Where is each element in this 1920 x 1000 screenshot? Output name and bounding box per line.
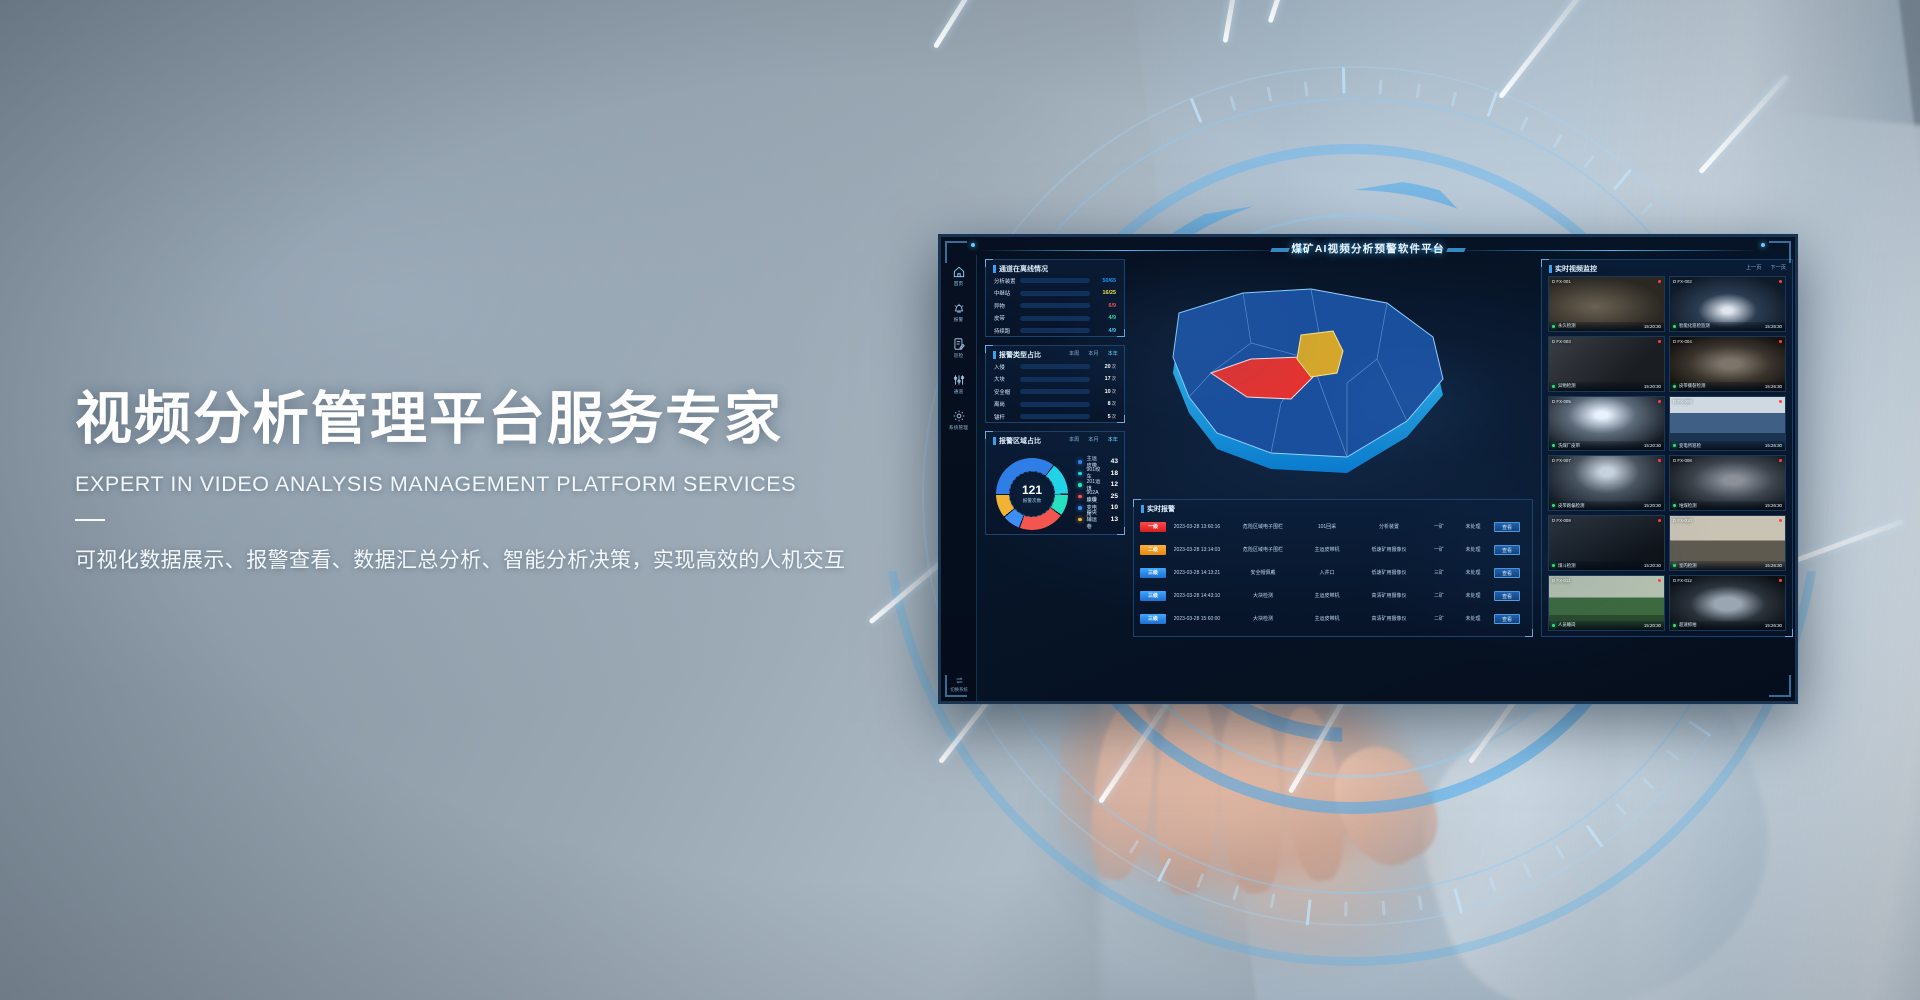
view-button[interactable]: 查看 <box>1494 522 1520 532</box>
tab-本月[interactable]: 本月 <box>1088 436 1098 443</box>
camera-id: D FX-006 <box>1673 399 1692 404</box>
video-tile[interactable]: D FX-011人员睡岗15:20:30 <box>1548 575 1665 631</box>
channel-name: 持续跑 <box>994 327 1020 335</box>
progress-track <box>1020 303 1090 308</box>
camera-name: 变电所巡检 <box>1679 443 1765 449</box>
alarm-type-panel: 报警类型占比 本周本月本年 入侵20次大块17次安全帽10次离岗8次锚杆5次 <box>985 345 1125 423</box>
video-tile[interactable]: D FX-010室内检测15:26:30 <box>1669 515 1786 571</box>
divider <box>75 519 105 521</box>
alarm-type: 大块检测 <box>1228 592 1298 599</box>
marketing-copy: 视频分析管理平台服务专家 EXPERT IN VIDEO ANALYSIS MA… <box>75 388 975 574</box>
online-dot-icon <box>1552 444 1555 447</box>
view-button[interactable]: 查看 <box>1494 591 1520 601</box>
home-icon <box>952 265 966 279</box>
alarm-type-name: 离岗 <box>994 400 1020 408</box>
camera-name: 堆煤检测 <box>1679 503 1765 509</box>
alarm-type-row: 入侵20次 <box>994 362 1116 371</box>
camera-name: 智能化巡检监测 <box>1679 323 1765 329</box>
camera-time: 15:26:30 <box>1765 443 1782 448</box>
alarm-type: 大块检测 <box>1228 615 1298 622</box>
region-map[interactable] <box>1133 259 1481 491</box>
alarm-type-name: 入侵 <box>994 363 1020 371</box>
video-tile[interactable]: D FX-009煤斗检测15:20:30 <box>1548 515 1665 571</box>
description: 可视化数据展示、报警查看、数据汇总分析、智能分析决策，实现高效的人机交互 <box>75 544 975 574</box>
camera-id: D FX-002 <box>1673 279 1692 284</box>
sidebar-label: 通道 <box>954 389 964 394</box>
alarm-type-value: 5次 <box>1090 414 1116 420</box>
donut-chart: 121 报警次数 <box>996 458 1068 530</box>
camera-time: 15:26:30 <box>1765 384 1782 389</box>
video-caption-bar: 洗煤厂皮带15:20:30 <box>1549 441 1664 450</box>
frame-corner <box>1769 675 1791 697</box>
progress-track <box>1020 316 1090 321</box>
alarm-device: 分析装置 <box>1356 523 1422 530</box>
legend-dot <box>1078 472 1082 476</box>
alarm-icon <box>952 301 966 315</box>
alarm-location: 主运皮带机 <box>1298 615 1356 622</box>
panel-title: 通道在离线情况 <box>993 264 1048 274</box>
alarm-location: 入井口 <box>1298 569 1356 576</box>
alarm-type-value: 8次 <box>1090 401 1116 407</box>
camera-id: D FX-012 <box>1673 578 1692 583</box>
map-svg <box>1151 273 1461 473</box>
alarm-type: 危险区域电子围栏 <box>1228 546 1298 553</box>
camera-id: D FX-004 <box>1673 339 1692 344</box>
table-row[interactable]: 三级2023-03-28 14:43:10大块检测主运皮带机高清矿用摄像仪二矿未… <box>1140 585 1528 606</box>
alarm-area-panel: 报警区域占比 本周本月本年 121 报警次数 主运皮带43901绞车18201运… <box>985 431 1125 535</box>
sidebar-label: 系统管理 <box>949 425 968 430</box>
camera-name: 人员睡岗 <box>1558 622 1644 628</box>
video-caption-bar: 煤斗检测15:20:30 <box>1549 561 1664 570</box>
channel-value: 6/9 <box>1090 303 1116 309</box>
channel-value: 16/25 <box>1090 290 1116 296</box>
legend-item: 中央辅运巷13 <box>1078 514 1118 526</box>
record-indicator-icon <box>1779 400 1782 403</box>
panel-title: 实时报警 <box>1141 504 1175 514</box>
online-dot-icon <box>1552 624 1555 627</box>
legend-value: 43 <box>1102 458 1118 465</box>
table-row[interactable]: 二级2023-03-28 13:14:03危险区域电子围栏主运皮带机低速矿用摄像… <box>1140 539 1528 560</box>
frame-corner <box>1769 241 1791 263</box>
alarm-device: 高清矿用摄像仪 <box>1356 592 1422 599</box>
video-tile[interactable]: D FX-006变电所巡检15:26:30 <box>1669 396 1786 452</box>
camera-id: D FX-008 <box>1673 458 1692 463</box>
camera-time: 15:20:30 <box>1644 443 1661 448</box>
camera-time: 15:20:30 <box>1644 623 1661 628</box>
donut-caption: 报警次数 <box>1023 498 1041 504</box>
next-page-button[interactable]: 下一页 <box>1770 264 1786 271</box>
camera-name: 永久检测 <box>1558 323 1644 329</box>
alarm-type-value: 20次 <box>1090 364 1116 370</box>
online-dot-icon <box>1552 504 1555 507</box>
alarm-location: 主运皮带机 <box>1298 546 1356 553</box>
table-row[interactable]: 一级2023-03-28 13:60:16危险区域电子围栏101回采分析装置一矿… <box>1140 516 1528 537</box>
legend-value: 18 <box>1102 470 1118 477</box>
online-dot-icon <box>1673 564 1676 567</box>
online-dot-icon <box>1673 444 1676 447</box>
table-row[interactable]: 三级2023-03-28 14:13:21安全帽佩戴入井口低速矿用摄像仪三矿未处… <box>1140 562 1528 583</box>
status-badge: 一级 <box>1140 522 1166 532</box>
video-grid: D FX-001永久检测15:20:30D FX-002智能化巡检监测15:26… <box>1548 276 1786 631</box>
alarm-grade: 二矿 <box>1422 615 1456 622</box>
camera-id: D FX-007 <box>1552 458 1571 463</box>
legend-dot <box>1078 460 1082 464</box>
channel-name: 皮带 <box>994 314 1020 322</box>
table-row[interactable]: 三级2023-03-28 15:60:00大块检测主运皮带机高清矿用摄像仪二矿未… <box>1140 608 1528 629</box>
progress-track <box>1020 389 1090 394</box>
subtitle: EXPERT IN VIDEO ANALYSIS MANAGEMENT PLAT… <box>75 472 975 497</box>
sidebar-item-inspection[interactable]: 巡检 <box>942 337 976 359</box>
camera-id: D FX-003 <box>1552 339 1571 344</box>
alarm-device: 高清矿用摄像仪 <box>1356 615 1422 622</box>
prev-page-button[interactable]: 上一页 <box>1746 264 1762 271</box>
channel-value: 4/9 <box>1090 328 1116 334</box>
camera-time: 15:26:30 <box>1765 563 1782 568</box>
channel-row: 异物6/9 <box>994 301 1116 310</box>
record-indicator-icon <box>1779 280 1782 283</box>
alarm-type-value: 10次 <box>1090 389 1116 395</box>
channel-row: 分析装置50/65 <box>994 276 1116 285</box>
online-dot-icon <box>1673 624 1676 627</box>
progress-track <box>1020 402 1090 407</box>
video-caption-bar: 异物检测15:20:30 <box>1549 382 1664 391</box>
record-indicator-icon <box>1658 400 1661 403</box>
video-caption-bar: 人员睡岗15:20:30 <box>1549 621 1664 630</box>
dashboard-device: 煤矿AI视频分析预警软件平台 首页 报警 巡检 <box>938 234 1798 704</box>
sidebar-item-home[interactable]: 首页 <box>942 265 976 287</box>
alarm-location: 101回采 <box>1298 523 1356 530</box>
frame-corner <box>945 241 967 263</box>
alarm-grade: 一矿 <box>1422 546 1456 553</box>
panel-title: 报警类型占比 <box>993 350 1041 360</box>
dashboard-title: 煤矿AI视频分析预警软件平台 <box>941 241 1795 256</box>
view-button[interactable]: 查看 <box>1494 545 1520 555</box>
camera-time: 15:20:30 <box>1644 563 1661 568</box>
inspection-icon <box>952 337 966 351</box>
tab-本周[interactable]: 本周 <box>1069 436 1079 443</box>
sidebar: 首页 报警 巡检 通道 <box>941 255 977 701</box>
legend-label: 中央辅运巷 <box>1087 509 1103 530</box>
video-caption-bar: 永久检测15:20:30 <box>1549 322 1664 331</box>
camera-name: 异物检测 <box>1558 383 1644 389</box>
alarm-device: 低速矿用摄像仪 <box>1356 546 1422 553</box>
online-dot-icon <box>1552 385 1555 388</box>
status-badge: 三级 <box>1140 568 1166 578</box>
progress-track <box>1020 414 1090 419</box>
alarm-time: 2023-03-28 13:14:03 <box>1166 547 1228 553</box>
channel-value: 4/9 <box>1090 315 1116 321</box>
camera-name: 洗煤厂皮带 <box>1558 443 1644 449</box>
alarm-type-name: 安全帽 <box>994 388 1020 396</box>
sidebar-item-channel[interactable]: 通道 <box>942 373 976 395</box>
channel-row: 持续跑4/9 <box>994 326 1116 335</box>
video-tile[interactable]: D FX-002智能化巡检监测15:26:30 <box>1669 276 1786 332</box>
donut-center: 121 报警次数 <box>1009 471 1055 517</box>
record-indicator-icon <box>1658 340 1661 343</box>
alarm-status: 未处理 <box>1456 569 1490 576</box>
online-dot-icon <box>1552 325 1555 328</box>
video-caption-bar: 超速抓拍15:26:30 <box>1670 621 1785 630</box>
video-caption-bar: 变电所巡检15:26:30 <box>1670 441 1785 450</box>
status-badge: 三级 <box>1140 591 1166 601</box>
legend-dot <box>1078 483 1082 487</box>
panel-title: 实时视频监控 <box>1549 264 1597 274</box>
channel-name: 中继站 <box>994 289 1020 297</box>
legend-dot <box>1078 518 1082 522</box>
sidebar-item-system[interactable]: 系统管理 <box>942 409 976 431</box>
sidebar-item-alarm[interactable]: 报警 <box>942 301 976 323</box>
alarm-type-name: 大块 <box>994 375 1020 383</box>
alarm-type-value: 17次 <box>1090 376 1116 382</box>
channel-row: 中继站16/25 <box>994 289 1116 298</box>
video-caption-bar: 皮带撕裂检测15:26:30 <box>1670 382 1785 391</box>
gear-icon <box>952 409 966 423</box>
alarm-status: 未处理 <box>1456 523 1490 530</box>
alarm-type: 危险区域电子围栏 <box>1228 523 1298 530</box>
alarm-type-row: 大块17次 <box>994 375 1116 384</box>
camera-id: D FX-009 <box>1552 518 1571 523</box>
sidebar-label: 报警 <box>954 317 964 322</box>
channel-row: 皮带4/9 <box>994 314 1116 323</box>
video-caption-bar: 智能化巡检监测15:26:30 <box>1670 322 1785 331</box>
view-button[interactable]: 查看 <box>1494 568 1520 578</box>
video-tile[interactable]: D FX-008堆煤检测15:26:30 <box>1669 455 1786 511</box>
donut-legend: 主运皮带43901绞车18201运煤12902A皮带25中央变电所10中央辅运巷… <box>1078 456 1118 525</box>
camera-id: D FX-010 <box>1673 518 1692 523</box>
alarm-type-tabs[interactable]: 本周本月本年 <box>1069 350 1118 357</box>
legend-dot <box>1078 506 1082 510</box>
video-tile[interactable]: D FX-007皮带跑偏检测15:20:30 <box>1548 455 1665 511</box>
camera-time: 15:26:30 <box>1765 623 1782 628</box>
tab-本周[interactable]: 本周 <box>1069 350 1079 357</box>
record-indicator-icon <box>1779 340 1782 343</box>
online-dot-icon <box>1673 325 1676 328</box>
video-monitor-panel: 实时视频监控 上一页 下一页 D FX-001永久检测15:20:30D FX-… <box>1541 259 1793 637</box>
camera-name: 皮带撕裂检测 <box>1679 383 1765 389</box>
realtime-alarm-panel: 实时报警 一级2023-03-28 13:60:16危险区域电子围栏101回采分… <box>1133 499 1533 637</box>
alarm-grade: 一矿 <box>1422 523 1456 530</box>
camera-id: D FX-001 <box>1552 279 1571 284</box>
donut-total: 121 <box>1022 484 1042 496</box>
tab-本年[interactable]: 本年 <box>1108 436 1118 443</box>
alarm-type-row: 离岗8次 <box>994 400 1116 409</box>
dashboard-screen: 煤矿AI视频分析预警软件平台 首页 报警 巡检 <box>941 237 1795 701</box>
alarm-time: 2023-03-28 14:13:21 <box>1166 570 1228 576</box>
video-tile[interactable]: D FX-005洗煤厂皮带15:20:30 <box>1548 396 1665 452</box>
alarm-status: 未处理 <box>1456 592 1490 599</box>
alarm-type-row: 锚杆5次 <box>994 412 1116 421</box>
camera-name: 皮带跑偏检测 <box>1558 503 1644 509</box>
sidebar-label: 巡检 <box>954 353 964 358</box>
camera-id: D FX-011 <box>1552 578 1570 583</box>
alarm-grade: 二矿 <box>1422 592 1456 599</box>
camera-name: 超速抓拍 <box>1679 622 1765 628</box>
video-tile[interactable]: D FX-004皮带撕裂检测15:26:30 <box>1669 336 1786 392</box>
status-badge: 三级 <box>1140 614 1166 624</box>
camera-time: 15:26:30 <box>1765 503 1782 508</box>
camera-id: D FX-005 <box>1552 399 1571 404</box>
camera-time: 15:20:30 <box>1644 324 1661 329</box>
page-title: 视频分析管理平台服务专家 <box>75 388 975 452</box>
legend-value: 25 <box>1102 493 1118 500</box>
alarm-location: 主运皮带机 <box>1298 592 1356 599</box>
legend-value: 12 <box>1102 481 1118 488</box>
progress-track <box>1020 377 1090 382</box>
channel-value: 50/65 <box>1090 278 1116 284</box>
video-caption-bar: 室内检测15:26:30 <box>1670 561 1785 570</box>
online-dot-icon <box>1673 504 1676 507</box>
alarm-type-row: 安全帽10次 <box>994 387 1116 396</box>
alarm-time: 2023-03-28 13:60:16 <box>1166 524 1228 530</box>
tab-本年[interactable]: 本年 <box>1108 350 1118 357</box>
camera-time: 15:20:30 <box>1644 503 1661 508</box>
alarm-grade: 三矿 <box>1422 569 1456 576</box>
camera-name: 室内检测 <box>1679 563 1765 569</box>
progress-track <box>1020 364 1090 369</box>
progress-track <box>1020 328 1090 333</box>
progress-track <box>1020 291 1090 296</box>
video-caption-bar: 皮带跑偏检测15:20:30 <box>1549 501 1664 510</box>
channel-name: 异物 <box>994 302 1020 310</box>
legend-value: 10 <box>1102 504 1118 511</box>
camera-name: 煤斗检测 <box>1558 563 1644 569</box>
channel-status-panel: 通道在离线情况 分析装置50/65中继站16/25异物6/9皮带4/9持续跑4/… <box>985 259 1125 337</box>
legend-dot <box>1078 495 1082 499</box>
view-button[interactable]: 查看 <box>1494 614 1520 624</box>
alarm-status: 未处理 <box>1456 615 1490 622</box>
alarm-time: 2023-03-28 15:60:00 <box>1166 616 1228 622</box>
tab-本月[interactable]: 本月 <box>1088 350 1098 357</box>
video-tile[interactable]: D FX-003异物检测15:20:30 <box>1548 336 1665 392</box>
progress-track <box>1020 278 1090 283</box>
alarm-type-name: 锚杆 <box>994 413 1020 421</box>
frame-corner <box>945 675 967 697</box>
alarm-type: 安全帽佩戴 <box>1228 569 1298 576</box>
online-dot-icon <box>1552 564 1555 567</box>
video-pager[interactable]: 上一页 下一页 <box>1746 264 1786 271</box>
sidebar-label: 首页 <box>954 281 964 286</box>
alarm-status: 未处理 <box>1456 546 1490 553</box>
status-badge: 二级 <box>1140 545 1166 555</box>
video-tile[interactable]: D FX-001永久检测15:20:30 <box>1548 276 1665 332</box>
alarm-device: 低速矿用摄像仪 <box>1356 569 1422 576</box>
online-dot-icon <box>1673 385 1676 388</box>
channel-icon <box>952 373 966 387</box>
panel-title: 报警区域占比 <box>993 436 1041 446</box>
record-indicator-icon <box>1658 280 1661 283</box>
camera-time: 15:26:30 <box>1765 324 1782 329</box>
alarm-area-tabs[interactable]: 本周本月本年 <box>1069 436 1118 443</box>
alarm-time: 2023-03-28 14:43:10 <box>1166 593 1228 599</box>
legend-value: 13 <box>1102 516 1118 523</box>
channel-name: 分析装置 <box>994 277 1020 285</box>
camera-time: 15:20:30 <box>1644 384 1661 389</box>
video-tile[interactable]: D FX-012超速抓拍15:26:30 <box>1669 575 1786 631</box>
video-caption-bar: 堆煤检测15:26:30 <box>1670 501 1785 510</box>
